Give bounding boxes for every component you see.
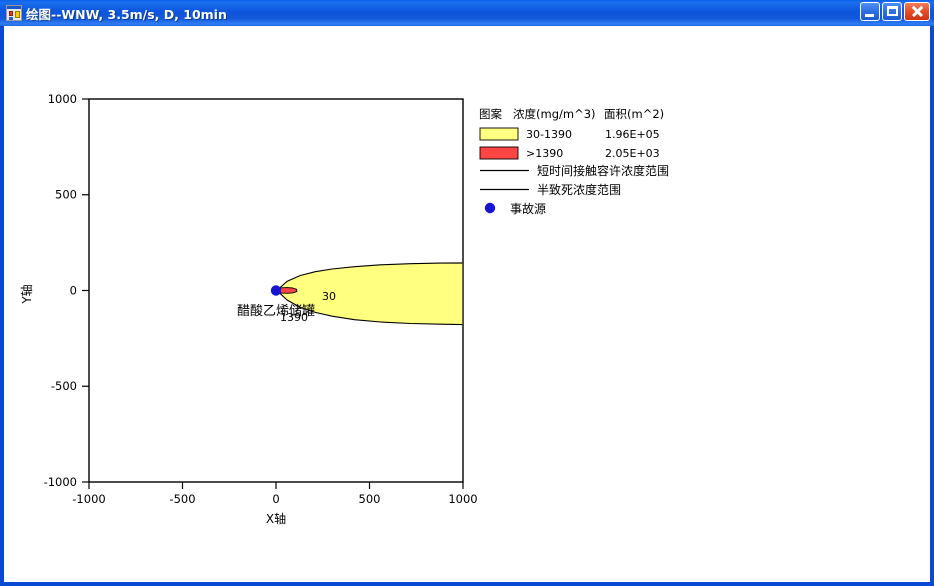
y-tick-label: 0: [70, 283, 77, 297]
legend-dot-source: [485, 203, 495, 213]
window-title: 绘图--WNW, 3.5m/s, D, 10min: [26, 4, 227, 23]
y-tick-label: -500: [51, 379, 77, 393]
accident-source-marker: [271, 285, 281, 295]
legend-row-area: 2.05E+03: [605, 147, 660, 160]
legend-row-area: 1.96E+05: [605, 128, 660, 141]
client-area: 1000 500 0 -500 -1000 -1000 -500: [4, 26, 930, 582]
y-axis-title: Y轴: [19, 284, 34, 304]
minimize-button[interactable]: [860, 2, 880, 21]
legend-label-source: 事故源: [510, 201, 546, 216]
legend-header-pattern: 图案: [479, 107, 502, 121]
contour-label-30: 30: [322, 290, 336, 303]
y-axis-ticks: [82, 99, 89, 482]
x-tick-label: -500: [169, 492, 195, 506]
x-tick-label: 0: [272, 492, 279, 506]
x-tick-label: -1000: [72, 492, 105, 506]
maximize-button[interactable]: [882, 2, 902, 21]
legend-label-stel: 短时间接触容许浓度范围: [537, 163, 669, 178]
legend-swatch-yellow: [480, 128, 518, 140]
y-tick-label: 1000: [48, 92, 77, 106]
legend-row-concentration: 30-1390: [526, 128, 572, 141]
window-controls: [860, 2, 930, 21]
x-tick-label: 500: [359, 492, 381, 506]
x-axis-tick-labels: -1000 -500 0 500 1000: [72, 492, 477, 506]
legend: 图案 浓度(mg/m^3) 面积(m^2) 30-1390 1.96E+05 >…: [479, 107, 669, 216]
y-tick-label: 500: [55, 188, 77, 202]
x-axis-ticks: [89, 482, 463, 489]
x-axis-title: X轴: [266, 511, 286, 526]
plot-figure: 1000 500 0 -500 -1000 -1000 -500: [4, 26, 930, 582]
y-axis-tick-labels: 1000 500 0 -500 -1000: [44, 92, 77, 489]
x-tick-label: 1000: [448, 492, 477, 506]
y-tick-label: -1000: [44, 475, 77, 489]
source-label: 醋酸乙烯储罐: [237, 303, 315, 319]
legend-header-concentration: 浓度(mg/m^3): [513, 107, 596, 121]
title-bar[interactable]: 绘图--WNW, 3.5m/s, D, 10min: [0, 0, 934, 26]
form-window-icon: [6, 5, 22, 21]
legend-label-lc50: 半致死浓度范围: [537, 182, 621, 197]
legend-row-concentration: >1390: [526, 147, 563, 160]
legend-header-area: 面积(m^2): [604, 107, 664, 121]
legend-swatch-red: [480, 147, 518, 159]
application-window: 绘图--WNW, 3.5m/s, D, 10min: [0, 0, 934, 586]
close-button[interactable]: [904, 2, 930, 21]
